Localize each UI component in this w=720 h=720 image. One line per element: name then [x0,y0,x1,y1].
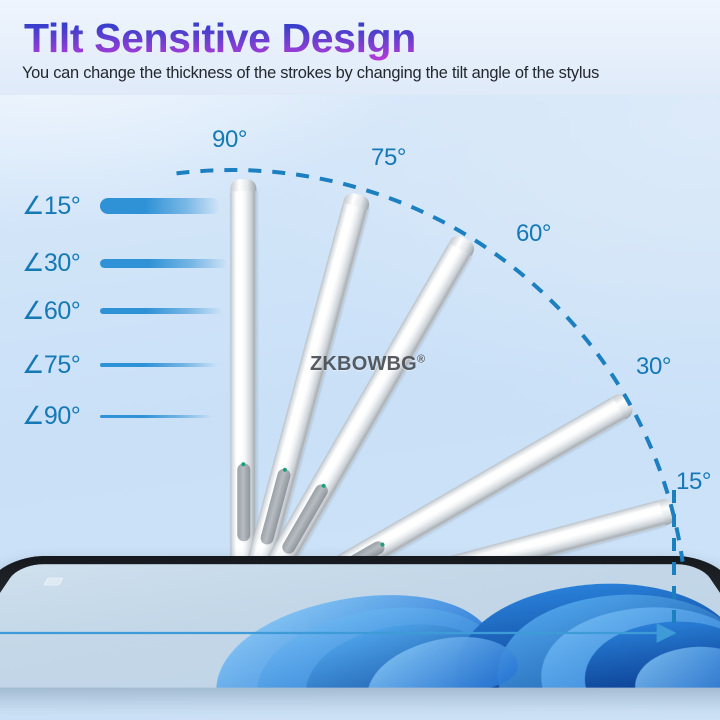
header-banner: Tilt Sensitive Design You can change the… [0,0,720,95]
stroke-sample [100,363,218,367]
stroke-legend-row: ∠15° [22,189,220,223]
arc-angle-label: 60° [516,220,551,248]
arc-angle-label: 15° [676,468,711,496]
led-indicator-icon [241,462,245,466]
stroke-legend-row: ∠30° [22,246,228,280]
arc-angle-label: 90° [212,126,247,154]
stylus-cap [343,191,371,209]
stroke-legend-row: ∠75° [22,348,218,382]
arc-angle-label: 75° [371,144,406,172]
stroke-legend-row: ∠90° [22,399,212,433]
stroke-angle-label: ∠90° [22,401,98,431]
camera-icon [43,578,63,586]
tablet-screen [0,564,720,687]
brand-name: ZKBOWBG [310,353,417,375]
stroke-sample [100,198,220,214]
arc-angle-label: 30° [636,353,671,381]
page-title: Tilt Sensitive Design [24,12,416,64]
stylus-cap [449,233,478,256]
registered-trademark-icon: ® [417,353,425,365]
stroke-sample [100,259,228,268]
tablet-bezel [0,556,720,688]
stylus-cap [230,179,256,191]
stroke-legend-row: ∠60° [22,294,222,328]
windows-bloom-wallpaper [54,565,720,687]
stylus-button[interactable] [237,463,250,541]
stylus-cap [612,391,635,420]
stroke-angle-label: ∠15° [22,191,98,221]
stroke-sample [100,308,222,314]
product-feature-graphic: Tilt Sensitive Design You can change the… [0,0,720,720]
stroke-angle-label: ∠75° [22,350,98,380]
stylus-cap [659,497,677,525]
stroke-angle-label: ∠30° [22,248,98,278]
tablet-device [28,556,692,720]
page-subtitle: You can change the thickness of the stro… [22,64,720,83]
stroke-angle-label: ∠60° [22,296,98,326]
brand-watermark: ZKBOWBG® [310,353,425,376]
stroke-sample [100,415,212,418]
